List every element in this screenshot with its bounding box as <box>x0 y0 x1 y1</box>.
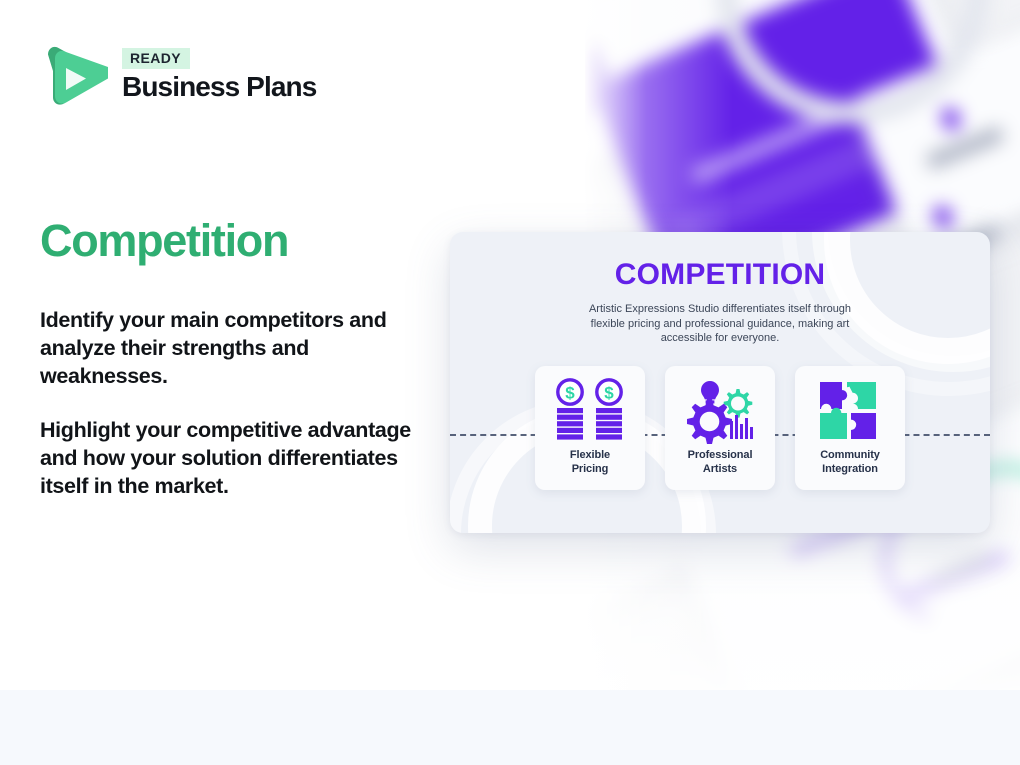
body-copy: Identify your main competitors and analy… <box>40 306 425 500</box>
slide-card[interactable]: COMPETITION Artistic Expressions Studio … <box>450 232 990 533</box>
feature-card-label: Professional Artists <box>688 449 753 476</box>
feature-card-label: Flexible Pricing <box>570 449 610 476</box>
bottom-band <box>0 690 1020 765</box>
body-paragraph-2: Highlight your competitive advantage and… <box>40 416 425 500</box>
slide-preview-page: READY Business Plans Competition Identif… <box>0 0 1020 765</box>
play-arrow-logo-icon <box>40 38 108 112</box>
ready-badge: READY <box>122 48 190 69</box>
puzzle-pieces-icon <box>816 375 884 447</box>
brand-logo[interactable]: READY Business Plans <box>40 38 316 112</box>
feature-card-label: Community Integration <box>820 449 880 476</box>
feature-label-line1: Professional <box>688 449 753 461</box>
coin-stacks-icon: $ $ <box>551 375 629 447</box>
feature-label-line2: Artists <box>703 463 737 475</box>
feature-label-line2: Pricing <box>572 463 609 475</box>
brand-name: Business Plans <box>122 71 316 102</box>
body-paragraph-1: Identify your main competitors and analy… <box>40 306 425 390</box>
slide-subtitle: Artistic Expressions Studio differentiat… <box>580 302 860 346</box>
gears-lightbulb-chart-icon <box>680 375 760 447</box>
slide-title: COMPETITION <box>450 258 990 292</box>
svg-text:$: $ <box>604 384 614 403</box>
feature-label-line2: Integration <box>822 463 878 475</box>
feature-card-professional-artists[interactable]: Professional Artists <box>665 366 775 490</box>
feature-cards-row: $ $ <box>450 366 990 490</box>
svg-text:$: $ <box>565 384 575 403</box>
feature-card-flexible-pricing[interactable]: $ $ <box>535 366 645 490</box>
brand-wordmark: READY Business Plans <box>122 48 316 103</box>
page-title: Competition <box>40 216 288 266</box>
feature-label-line1: Community <box>820 449 880 461</box>
feature-label-line1: Flexible <box>570 449 610 461</box>
feature-card-community-integration[interactable]: Community Integration <box>795 366 905 490</box>
